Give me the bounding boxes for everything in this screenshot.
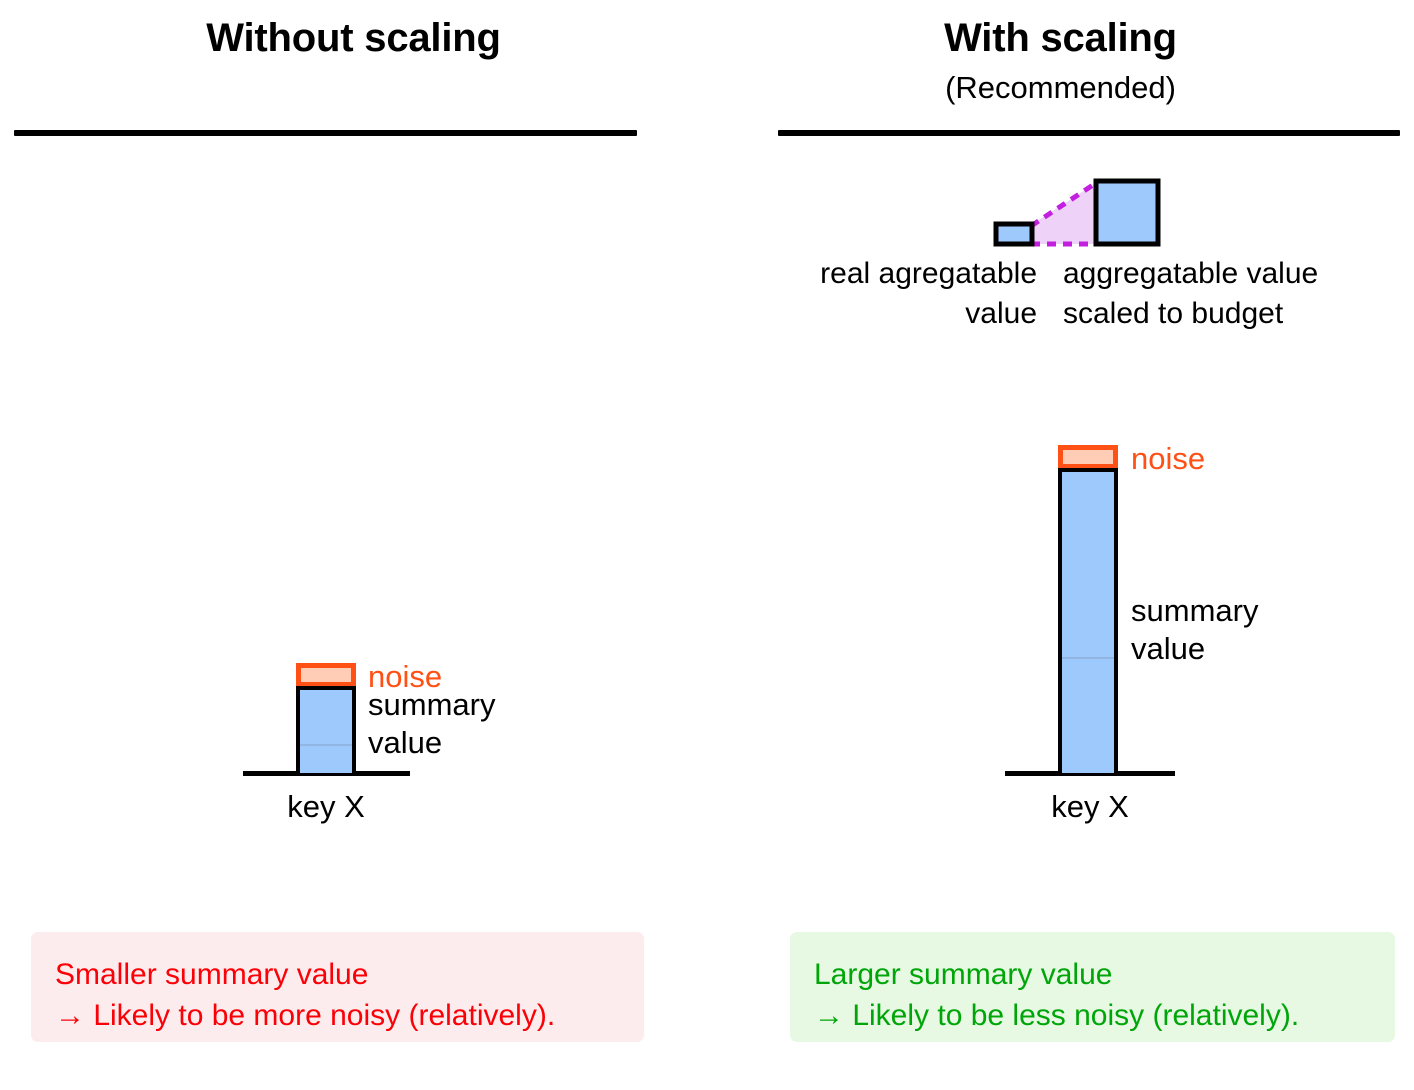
- bar-segment-noise-right: [1058, 445, 1118, 469]
- header-divider-left: [14, 130, 637, 136]
- legend-scaling-svg: [993, 178, 1165, 250]
- callout-smaller-summary-value: Smaller summary value → Likely to be mor…: [31, 932, 644, 1042]
- legend-scaling-illustration: [993, 178, 1165, 250]
- panel-with-scaling: With scaling (Recommended) real agregata…: [707, 0, 1414, 1090]
- axis-label-key-x-left: key X: [206, 791, 446, 822]
- legend-labels: real agregatable value aggregatable valu…: [777, 254, 1397, 334]
- annotation-summary-value-left: summary value: [368, 686, 495, 762]
- header-divider-right: [778, 130, 1400, 136]
- bar-segment-noise-left: [296, 663, 356, 687]
- annotation-summary-value-right: summary value: [1131, 592, 1258, 668]
- annotation-noise-right: noise: [1131, 440, 1205, 478]
- page-subtitle-recommended: (Recommended): [707, 72, 1414, 103]
- page-title-without-scaling: Without scaling: [0, 18, 707, 58]
- legend-bar-real-value: [996, 224, 1032, 244]
- legend-label-scaled-to-budget: aggregatable value scaled to budget: [1063, 254, 1373, 334]
- page-title-with-scaling: With scaling: [707, 18, 1414, 58]
- bar-segment-summary-value-left: [296, 686, 356, 773]
- callout-larger-summary-value: Larger summary value → Likely to be less…: [790, 932, 1395, 1042]
- legend-label-real-aggregatable-value: real agregatable value: [777, 254, 1037, 334]
- bar-inner-tick-left: [300, 744, 352, 746]
- bar-segment-summary-value-right: [1058, 468, 1118, 773]
- panel-without-scaling: Without scaling noise summary value key …: [0, 0, 707, 1090]
- bar-inner-tick-right: [1062, 657, 1114, 659]
- legend-bar-scaled-value: [1096, 181, 1158, 244]
- axis-label-key-x-right: key X: [970, 791, 1210, 822]
